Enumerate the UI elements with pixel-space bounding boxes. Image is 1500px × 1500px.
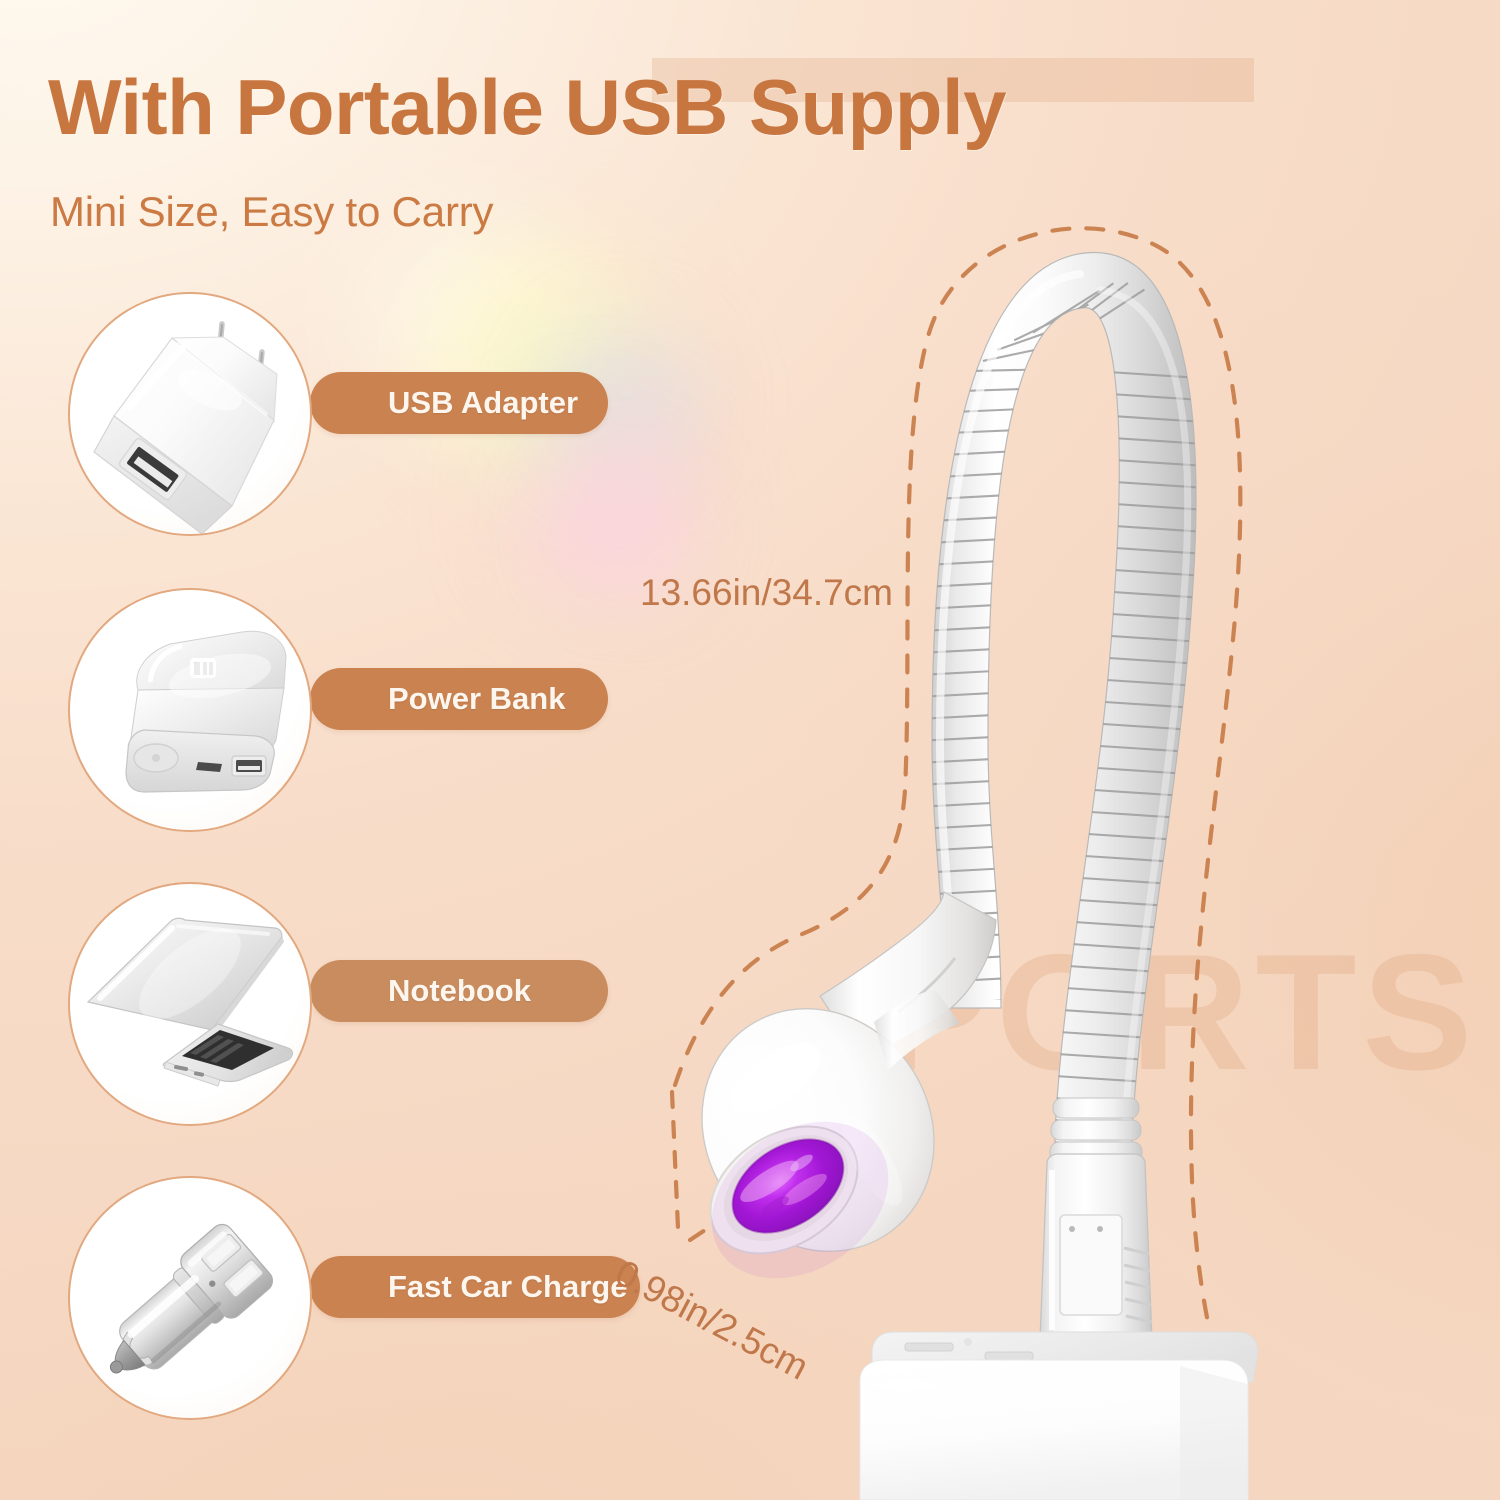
page-subtitle: Mini Size, Easy to Carry bbox=[50, 188, 493, 236]
feature-icon-circle bbox=[68, 588, 312, 832]
feature-label: USB Adapter bbox=[388, 385, 578, 421]
feature-pill-notebook: Notebook bbox=[310, 960, 608, 1022]
headline-group: With Portable USB Supply bbox=[48, 62, 1006, 153]
feature-pill-fast-car-charge: Fast Car Charge bbox=[310, 1256, 640, 1318]
feature-icon-circle bbox=[68, 882, 312, 1126]
laptop-notebook-icon bbox=[70, 884, 312, 1126]
usb-plug bbox=[1040, 1098, 1153, 1352]
usb-wall-adapter-icon bbox=[70, 294, 312, 536]
feature-icon-circle bbox=[68, 1176, 312, 1420]
car-charger-icon bbox=[70, 1178, 312, 1420]
feature-pill-usb-adapter: USB Adapter bbox=[310, 372, 608, 434]
gooseneck-tube bbox=[916, 253, 1207, 1182]
feature-label: Fast Car Charge bbox=[388, 1269, 627, 1305]
page-title: With Portable USB Supply bbox=[48, 62, 1006, 153]
lamp-head bbox=[656, 892, 996, 1310]
feature-icon-circle bbox=[68, 292, 312, 536]
feature-pill-power-bank: Power Bank bbox=[310, 668, 608, 730]
base-power-block bbox=[860, 1332, 1258, 1500]
feature-label: Power Bank bbox=[388, 681, 565, 717]
feature-label: Notebook bbox=[388, 973, 531, 1009]
dimension-label-length: 13.66in/34.7cm bbox=[640, 572, 893, 614]
product-marketing-image: PORTS bbox=[0, 0, 1500, 1500]
power-bank-icon bbox=[70, 590, 312, 832]
